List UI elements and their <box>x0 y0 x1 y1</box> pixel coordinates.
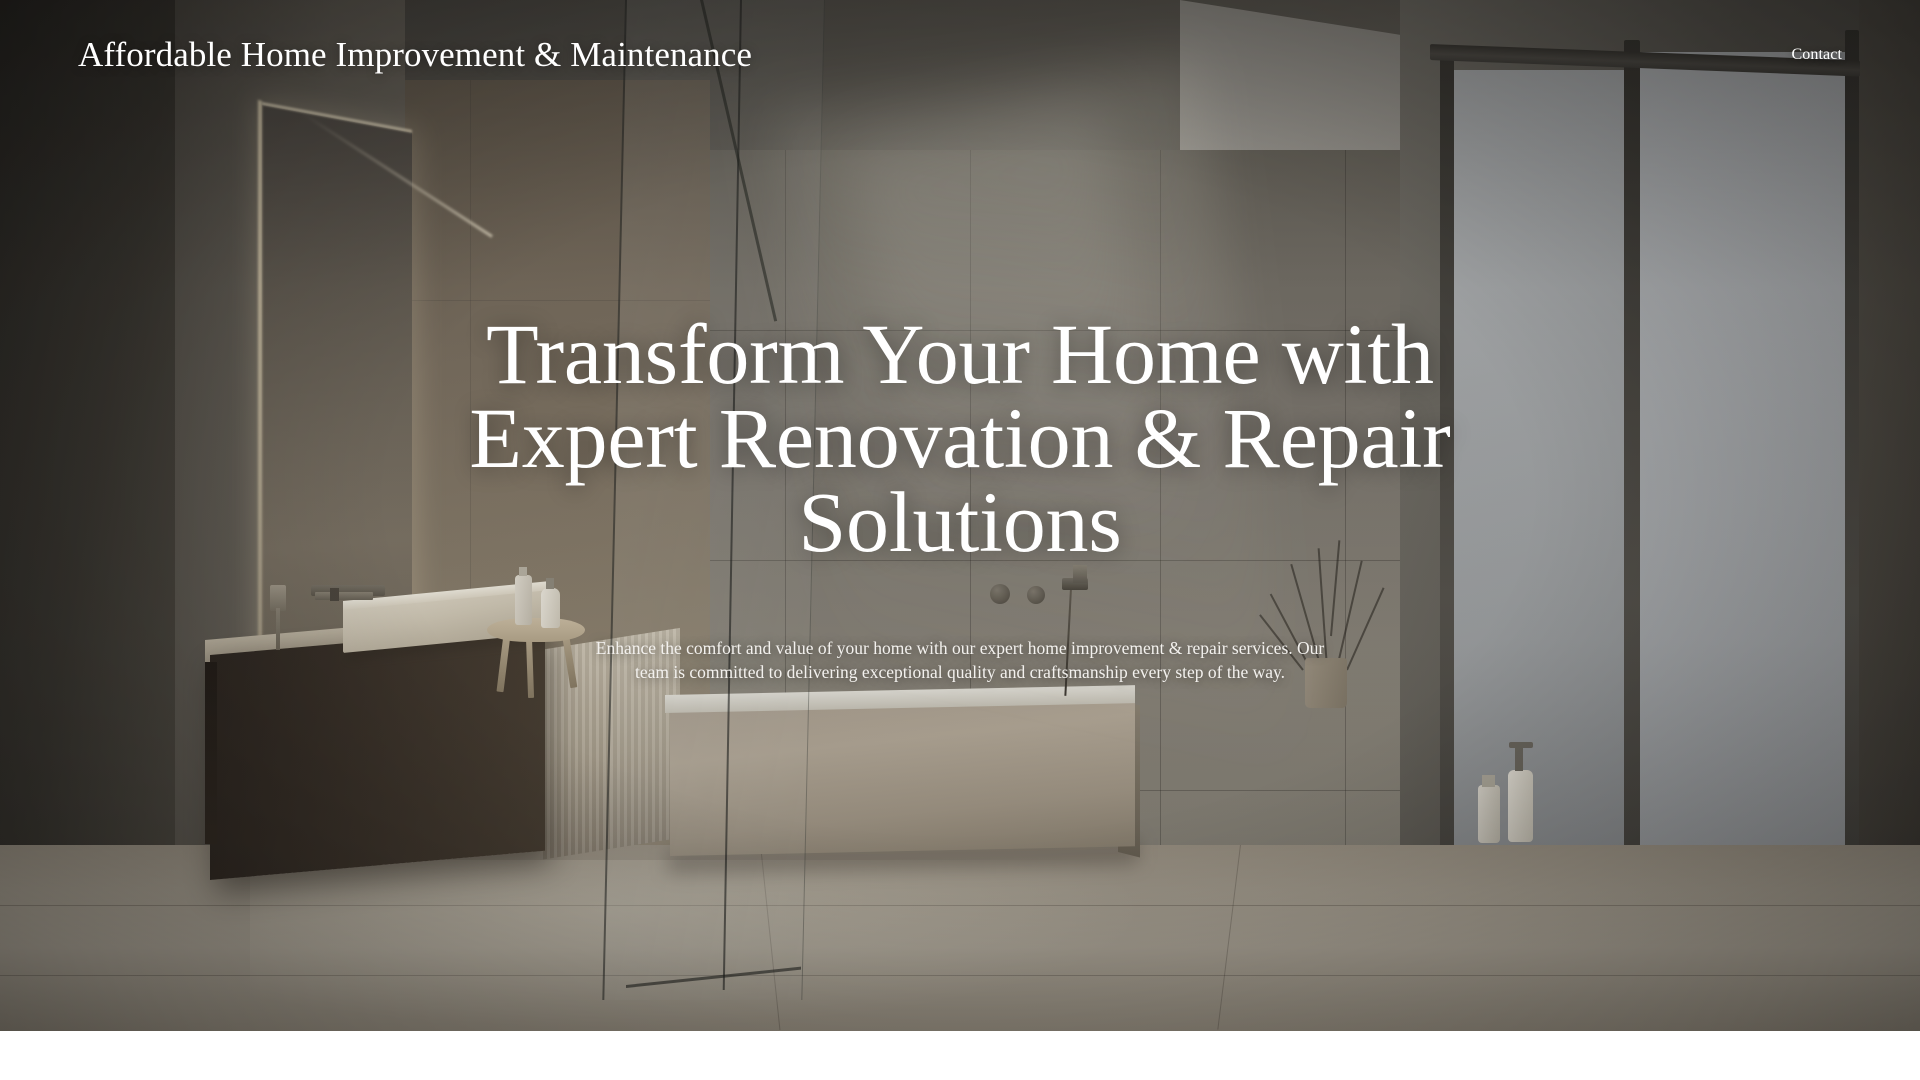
hero-headline: Transform Your Home with Expert Renovati… <box>370 312 1550 564</box>
top-navigation-bar: Affordable Home Improvement & Maintenanc… <box>0 0 1920 110</box>
page-body-below-hero <box>0 1031 1920 1080</box>
hero-content: Transform Your Home with Expert Renovati… <box>0 0 1920 1031</box>
nav-link-contact[interactable]: Contact <box>1792 46 1842 64</box>
hero-subcopy: Enhance the comfort and value of your ho… <box>589 636 1331 684</box>
nav-link-list: Contact <box>1792 46 1842 64</box>
site-brand-logo[interactable]: Affordable Home Improvement & Maintenanc… <box>78 36 752 75</box>
hero-section: Affordable Home Improvement & Maintenanc… <box>0 0 1920 1031</box>
